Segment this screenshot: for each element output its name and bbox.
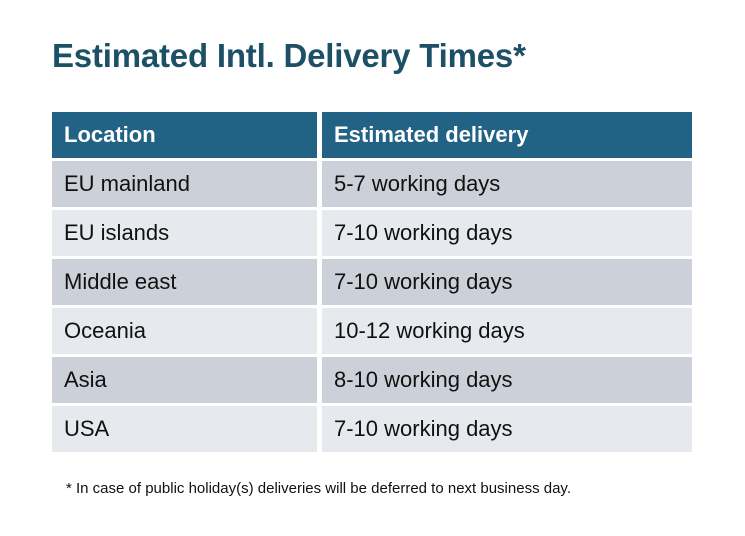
cell-delivery: 7-10 working days <box>322 406 692 452</box>
table-row: EU islands 7-10 working days <box>52 210 692 256</box>
table-row: Asia 8-10 working days <box>52 357 692 403</box>
cell-location: USA <box>52 406 317 452</box>
table-row: Oceania 10-12 working days <box>52 308 692 354</box>
table-header-row: Location Estimated delivery <box>52 112 692 158</box>
cell-location: Asia <box>52 357 317 403</box>
footnote-text: * In case of public holiday(s) deliverie… <box>66 480 571 497</box>
cell-delivery: 7-10 working days <box>322 210 692 256</box>
cell-delivery: 8-10 working days <box>322 357 692 403</box>
cell-location: EU islands <box>52 210 317 256</box>
cell-delivery: 7-10 working days <box>322 259 692 305</box>
table-row: USA 7-10 working days <box>52 406 692 452</box>
page-title: Estimated Intl. Delivery Times* <box>52 36 526 76</box>
table-row: EU mainland 5-7 working days <box>52 161 692 207</box>
column-header-estimated-delivery: Estimated delivery <box>322 112 692 158</box>
delivery-times-page: Estimated Intl. Delivery Times* Location… <box>0 0 745 536</box>
cell-delivery: 10-12 working days <box>322 308 692 354</box>
cell-location: Oceania <box>52 308 317 354</box>
cell-delivery: 5-7 working days <box>322 161 692 207</box>
cell-location: Middle east <box>52 259 317 305</box>
column-header-location: Location <box>52 112 317 158</box>
delivery-times-table: Location Estimated delivery EU mainland … <box>52 112 692 452</box>
table-row: Middle east 7-10 working days <box>52 259 692 305</box>
cell-location: EU mainland <box>52 161 317 207</box>
